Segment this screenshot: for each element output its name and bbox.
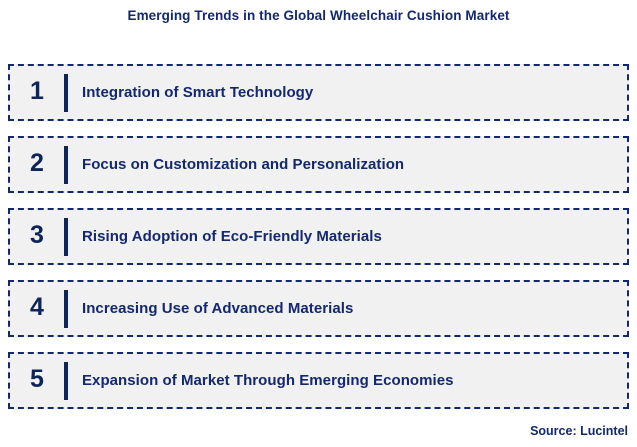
trend-label: Increasing Use of Advanced Materials xyxy=(68,300,627,317)
infographic-page: Emerging Trends in the Global Wheelchair… xyxy=(0,0,637,447)
trend-number: 5 xyxy=(10,367,64,394)
trend-list: 1 Integration of Smart Technology 2 Focu… xyxy=(8,64,629,409)
trend-number: 4 xyxy=(10,295,64,322)
trend-number: 3 xyxy=(10,223,64,250)
trend-label: Integration of Smart Technology xyxy=(68,84,627,101)
trend-number: 1 xyxy=(10,79,64,106)
trend-row: 2 Focus on Customization and Personaliza… xyxy=(8,136,629,193)
trend-row: 5 Expansion of Market Through Emerging E… xyxy=(8,352,629,409)
source-note: Source: Lucintel xyxy=(530,424,628,438)
trend-row: 1 Integration of Smart Technology xyxy=(8,64,629,121)
trend-row: 3 Rising Adoption of Eco-Friendly Materi… xyxy=(8,208,629,265)
trend-row: 4 Increasing Use of Advanced Materials xyxy=(8,280,629,337)
trend-label: Rising Adoption of Eco-Friendly Material… xyxy=(68,228,627,245)
trend-number: 2 xyxy=(10,151,64,178)
trend-label: Expansion of Market Through Emerging Eco… xyxy=(68,372,627,389)
page-title: Emerging Trends in the Global Wheelchair… xyxy=(0,8,637,23)
trend-label: Focus on Customization and Personalizati… xyxy=(68,156,627,173)
